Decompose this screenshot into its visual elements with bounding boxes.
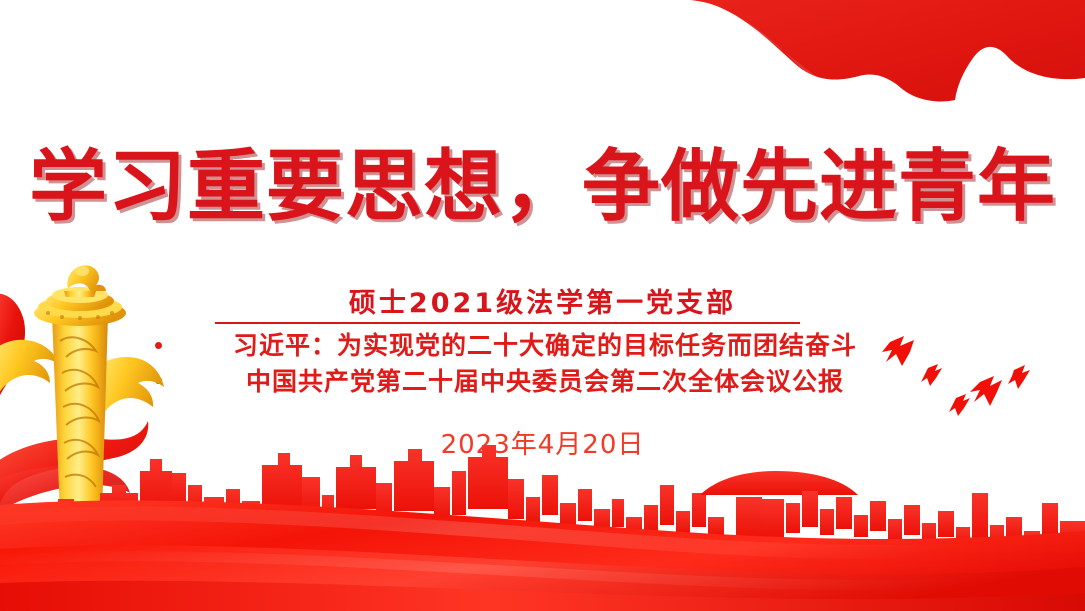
slide-title: 学习重要思想，争做先进青年 [0,148,1085,226]
bottom-skyline-and-wave [0,431,1085,611]
flying-doves-decoration [880,320,1065,445]
list-item: 习近平：为实现党的二十大确定的目标任务而团结奋斗 [150,328,940,364]
top-ribbon-decoration [615,0,1085,135]
dove-icon [1008,365,1030,389]
bullet-text: 中国共产党第二十届中央委员会第二次全体会议公报 [246,367,844,396]
list-item: 中国共产党第二十届中央委员会第二次全体会议公报 [150,364,940,400]
dove-icon [970,376,1002,406]
dove-icon [949,394,970,416]
dove-icon [921,364,942,386]
bullet-text: 习近平：为实现党的二十大确定的目标任务而团结奋斗 [233,331,857,360]
presentation-slide: 学习重要思想，争做先进青年 硕士2021级法学第一党支部 习近平：为实现党的二十… [0,0,1085,611]
subtitle-underline [215,322,800,324]
dove-icon [882,336,914,366]
bullet-list: 习近平：为实现党的二十大确定的目标任务而团结奋斗 中国共产党第二十届中央委员会第… [150,328,940,399]
